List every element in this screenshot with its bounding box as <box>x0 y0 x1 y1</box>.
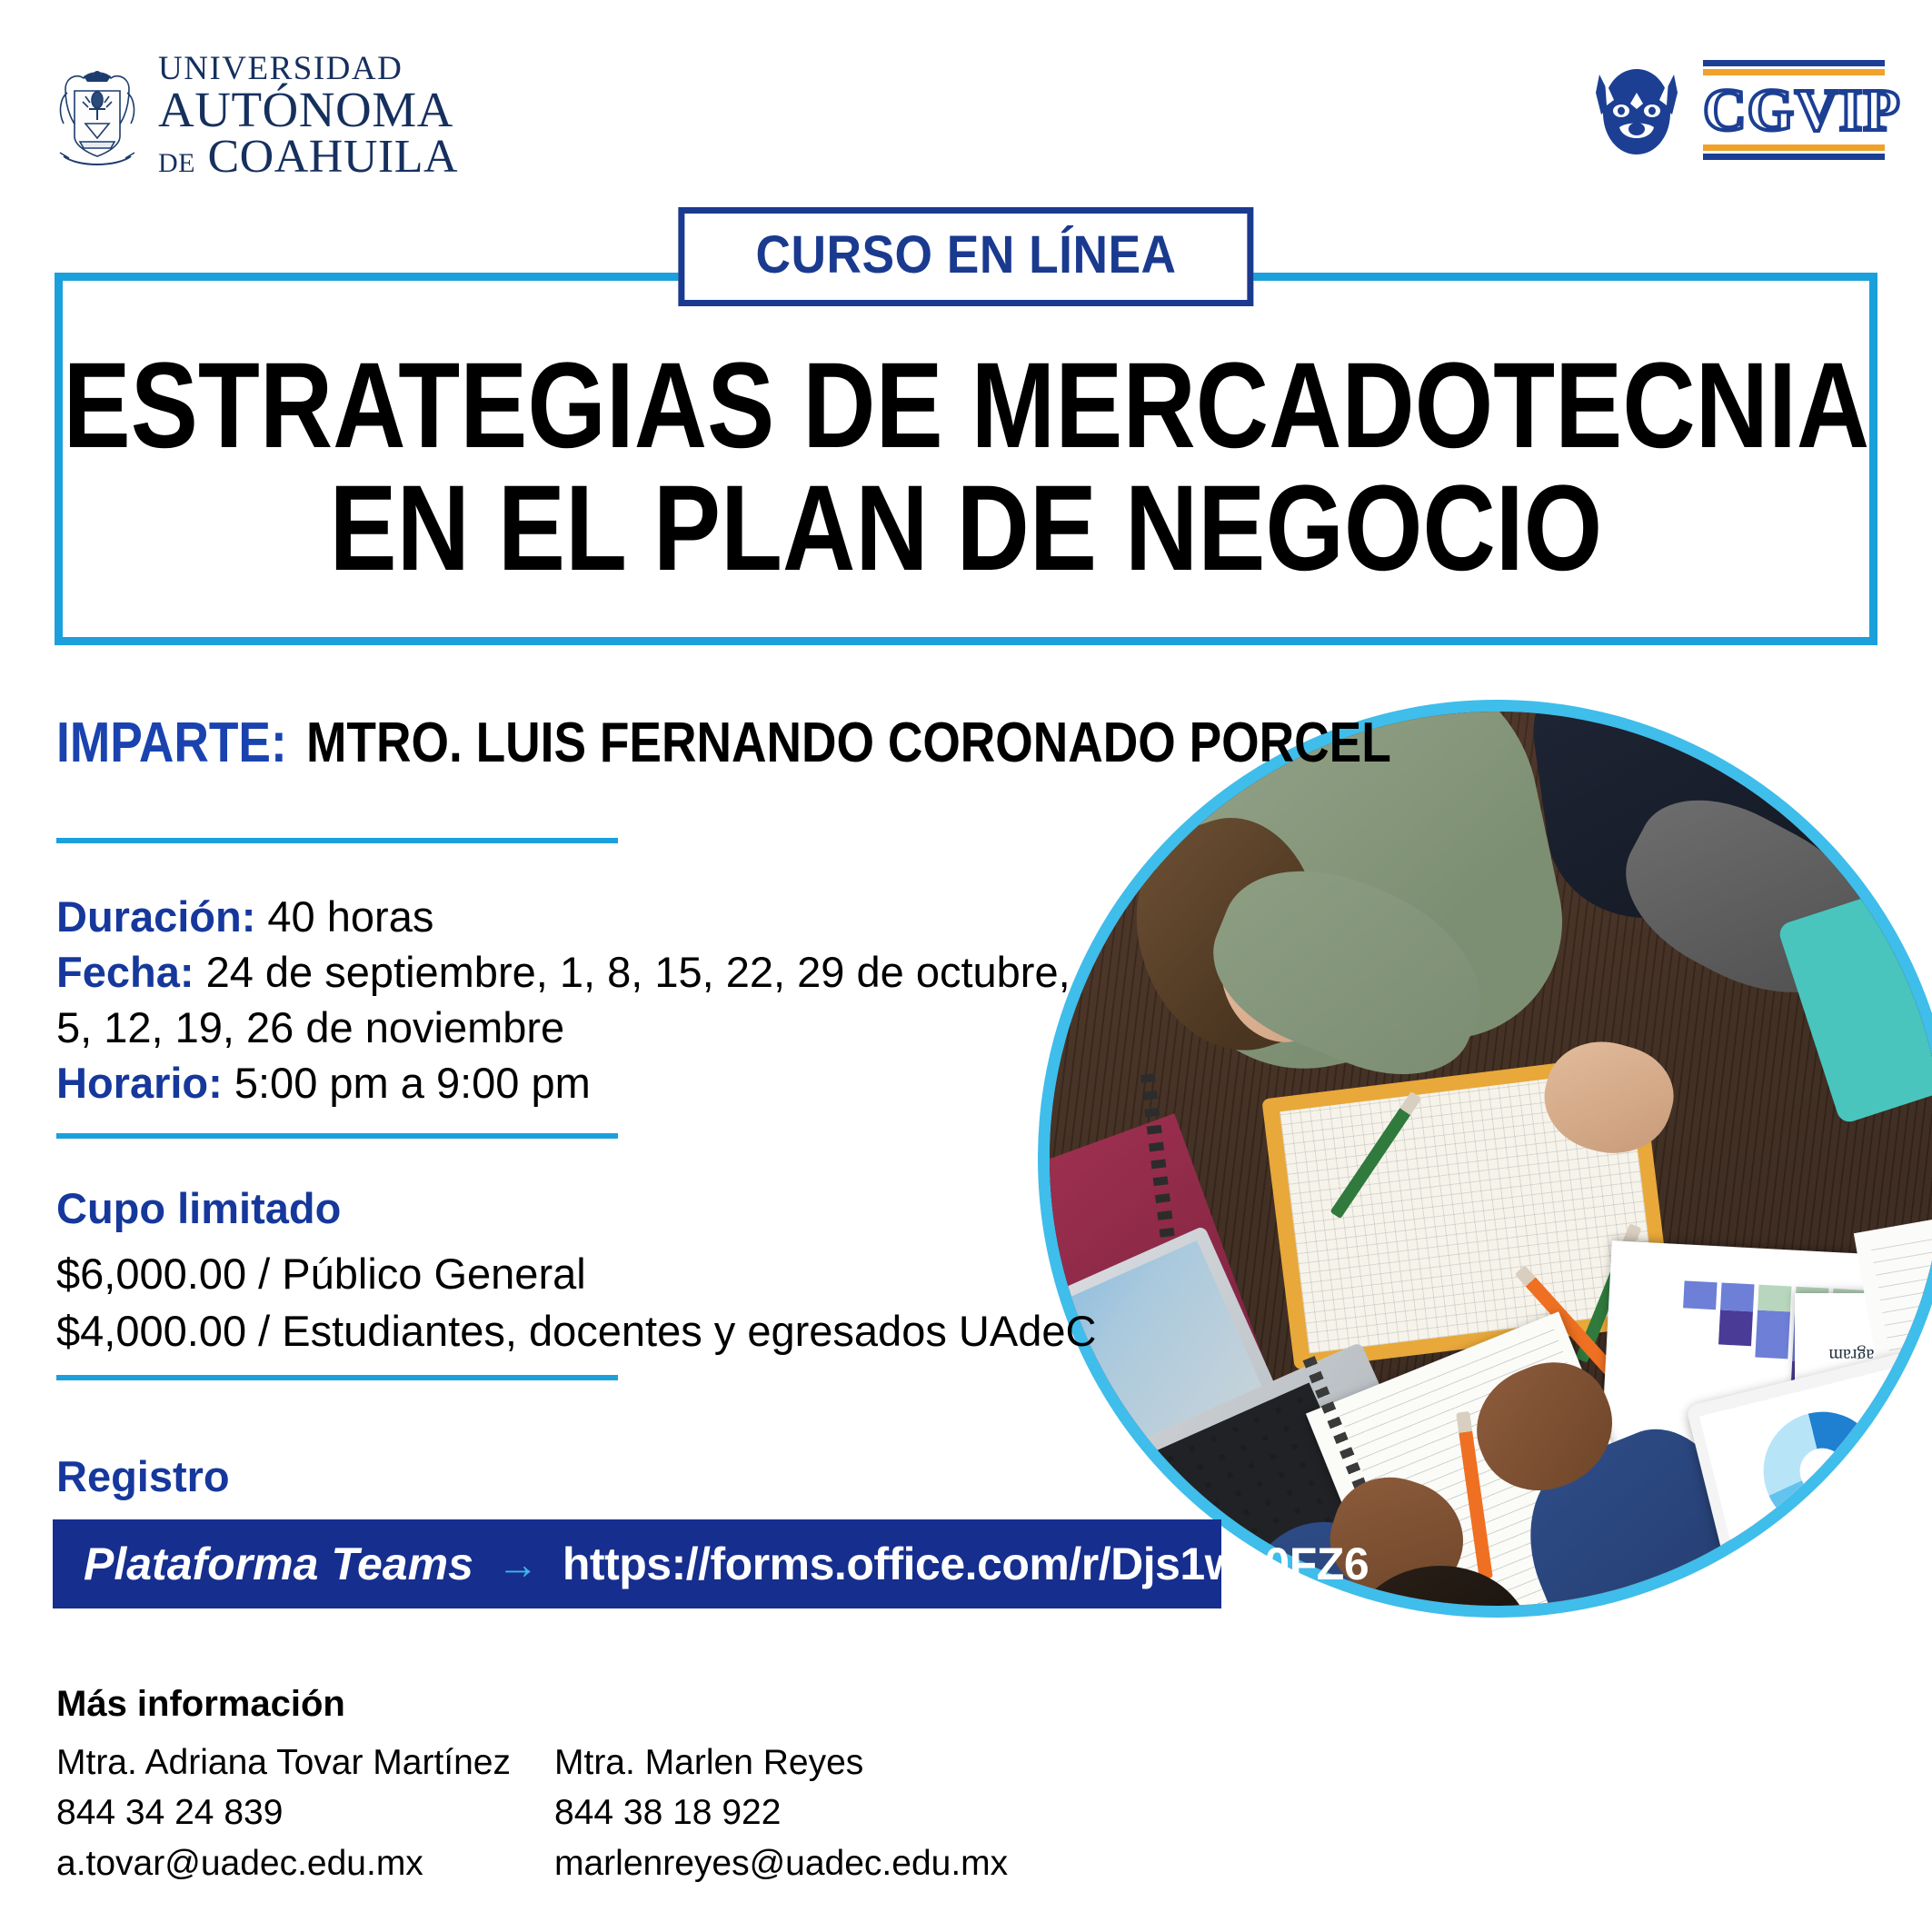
instructor-row: IMPARTE: MTRO. LUIS FERNANDO CORONADO PO… <box>56 711 1568 775</box>
chart-bar <box>1718 1282 1755 1346</box>
detail-fecha-value: 24 de septiembre, 1, 8, 15, 22, 29 de oc… <box>206 948 1071 996</box>
uadec-shield-icon <box>53 62 142 173</box>
contact-person: Mtra. Marlen Reyes 844 38 18 922 marlenr… <box>554 1738 1009 1888</box>
cgvip-rule-top-orange <box>1703 69 1885 75</box>
cgvip-rule-bottom-orange <box>1703 144 1885 151</box>
title-frame: ESTRATEGIAS DE MERCADOTECNIA EN EL PLAN … <box>55 273 1877 645</box>
chart-bar <box>1683 1280 1718 1310</box>
chart-bar <box>1755 1285 1791 1359</box>
instructor-label: IMPARTE: <box>56 711 287 775</box>
donut-chart <box>1751 1399 1895 1543</box>
detail-duracion-value: 40 horas <box>267 892 433 941</box>
contact-section: Más información Mtra. Adriana Tovar Mart… <box>56 1684 1009 1888</box>
price-line-students: $4,000.00 / Estudiantes, docentes y egre… <box>56 1303 1096 1360</box>
course-photo: Statistic 100% Marketing history <box>1038 700 1932 1618</box>
plataforma-teams-label: Plataforma Teams <box>84 1538 473 1590</box>
donut-chart-hole <box>1795 1443 1850 1499</box>
uadec-wordmark: UNIVERSIDAD AUTÓNOMA DE COAHUILA <box>158 53 458 181</box>
curso-en-linea-label: CURSO EN LÍNEA <box>755 224 1176 285</box>
cgvip-rule-bottom-blue <box>1703 154 1885 160</box>
price-line-general: $6,000.00 / Público General <box>56 1246 1096 1303</box>
uadec-logo: UNIVERSIDAD AUTÓNOMA DE COAHUILA <box>53 53 458 181</box>
contact-email[interactable]: marlenreyes@uadec.edu.mx <box>554 1838 1009 1888</box>
detail-horario-label: Horario: <box>56 1059 223 1107</box>
uadec-line-1: UNIVERSIDAD <box>158 53 458 85</box>
course-details: Duración: 40 horas Fecha: 24 de septiemb… <box>56 889 1071 1110</box>
tablet-yellow-panel <box>1745 1568 1887 1606</box>
pricing-section: Cupo limitado $6,000.00 / Público Genera… <box>56 1183 1096 1359</box>
contact-name: Mtra. Adriana Tovar Martínez <box>56 1738 511 1788</box>
divider-registration <box>56 1375 618 1380</box>
curso-en-linea-badge: CURSO EN LÍNEA <box>678 207 1253 306</box>
instructor-name: MTRO. LUIS FERNANDO CORONADO PORCEL <box>306 711 1391 775</box>
uadec-line-3-prefix: DE <box>158 148 195 178</box>
detail-fecha: Fecha: 24 de septiembre, 1, 8, 15, 22, 2… <box>56 944 1071 1000</box>
divider-details <box>56 838 618 843</box>
registration-bar[interactable]: Plataforma Teams → https://forms.office.… <box>53 1519 1221 1608</box>
tablet-screen: 100% <box>1699 1367 1932 1606</box>
course-title: ESTRATEGIAS DE MERCADOTECNIA EN EL PLAN … <box>63 281 1869 637</box>
contact-columns: Mtra. Adriana Tovar Martínez 844 34 24 8… <box>56 1738 1009 1888</box>
contact-name: Mtra. Marlen Reyes <box>554 1738 1009 1788</box>
detail-horario-value: 5:00 pm a 9:00 pm <box>234 1059 591 1107</box>
contact-heading: Más información <box>56 1684 1009 1725</box>
detail-fecha-label: Fecha: <box>56 948 194 996</box>
registration-url[interactable]: https://forms.office.com/r/Djs1wc0FZ6 <box>563 1538 1369 1590</box>
uadec-line-3-main: COAHUILA <box>208 131 459 183</box>
registro-heading: Registro <box>56 1451 230 1501</box>
detail-fecha-value-cont: 5, 12, 19, 26 de noviembre <box>56 1003 564 1051</box>
detail-horario: Horario: 5:00 pm a 9:00 pm <box>56 1055 1071 1110</box>
arrow-right-icon: → <box>497 1543 539 1585</box>
contact-phone[interactable]: 844 34 24 839 <box>56 1788 511 1837</box>
detail-duracion: Duración: 40 horas <box>56 889 1071 944</box>
course-photo-inner: Statistic 100% Marketing history <box>1050 712 1932 1606</box>
cgvip-logo: CGVIP <box>1583 56 1885 164</box>
uadec-line-2: AUTÓNOMA <box>158 85 458 134</box>
contact-phone[interactable]: 844 38 18 922 <box>554 1788 1009 1837</box>
cgvip-rule-top-blue <box>1703 60 1885 66</box>
detail-duracion-label: Duración: <box>56 892 255 941</box>
course-title-line-2: EN EL PLAN DE NEGOCIO <box>330 471 1603 586</box>
divider-pricing <box>56 1133 618 1139</box>
course-title-line-1: ESTRATEGIAS DE MERCADOTECNIA <box>63 348 1869 463</box>
detail-fecha-cont: 5, 12, 19, 26 de noviembre <box>56 1000 1071 1055</box>
cupo-limitado-heading: Cupo limitado <box>56 1183 1096 1233</box>
contact-email[interactable]: a.tovar@uadec.edu.mx <box>56 1838 511 1888</box>
wolf-head-icon <box>1583 56 1690 164</box>
cgvip-wordmark: CGVIP <box>1703 60 1885 160</box>
uadec-line-3: DE COAHUILA <box>158 134 458 181</box>
contact-person: Mtra. Adriana Tovar Martínez 844 34 24 8… <box>56 1738 511 1888</box>
cgvip-letters: CGVIP <box>1703 75 1885 144</box>
